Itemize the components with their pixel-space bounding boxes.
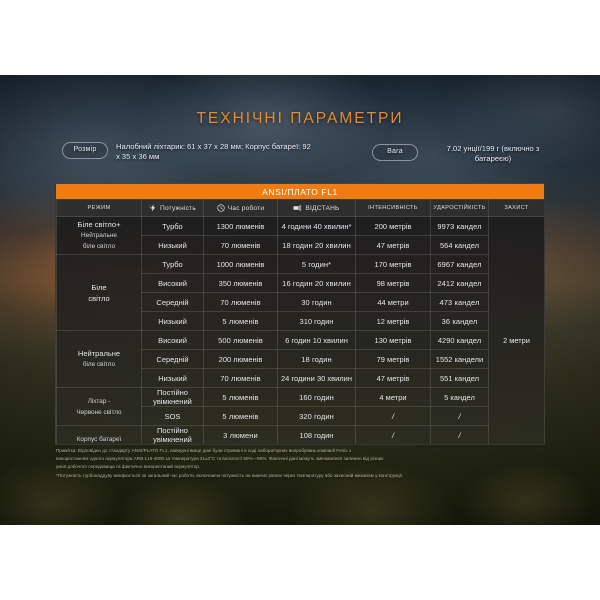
group-line-2: Червоне світло xyxy=(59,407,139,418)
size-value: Налобний ліхтарик: 61 x 37 x 28 мм; Корп… xyxy=(116,142,316,162)
cell-distance: 79 метрів xyxy=(356,350,431,369)
group-line-1: Нейтральне xyxy=(78,349,120,358)
cell-power: 70 люменів xyxy=(204,236,278,255)
cell-intensity: 551 кандел xyxy=(431,369,489,388)
cell-runtime: 6 годин 10 хвилин xyxy=(278,331,356,350)
group-line-1: Ліхтар - xyxy=(59,396,139,407)
cell-distance: 47 метрів xyxy=(356,369,431,388)
cell-runtime: 310 годин xyxy=(278,312,356,331)
table-header: РЕЖИМ Потужність xyxy=(57,200,545,217)
group-line-1: Біле xyxy=(91,283,106,292)
cell-level: SOS xyxy=(142,407,204,426)
cell-intensity: / xyxy=(431,426,489,445)
cell-intensity: 2412 кандел xyxy=(431,274,489,293)
table-row: Ліхтар - Червоне світло Постійно увімкне… xyxy=(57,388,545,407)
cell-distance: 44 метри xyxy=(356,293,431,312)
cell-level: Турбо xyxy=(142,217,204,236)
group-label-white-plus-neutral: Біле світло+ Нейтральне біле світло xyxy=(57,217,142,255)
cell-runtime: 320 годин xyxy=(278,407,356,426)
cell-runtime: 5 годин* xyxy=(278,255,356,274)
cell-power: 5 люменів xyxy=(204,388,278,407)
cell-runtime: 30 годин xyxy=(278,293,356,312)
page-title: ТЕХНІЧНІ ПАРАМЕТРИ xyxy=(0,110,600,128)
group-line-2: червоне світло xyxy=(59,445,139,446)
cell-power: 3 люмени xyxy=(204,426,278,445)
cell-power: 200 люменів xyxy=(204,350,278,369)
cell-level: Високий xyxy=(142,331,204,350)
header-impact: УДАРОСТІЙКІСТЬ xyxy=(431,200,489,217)
cell-power: 5 люменів xyxy=(204,407,278,426)
cell-distance: / xyxy=(356,407,431,426)
spec-size-group: Розмір Налобний ліхтарик: 61 x 37 x 28 м… xyxy=(62,142,316,162)
spec-summary-row: Розмір Налобний ліхтарик: 61 x 37 x 28 м… xyxy=(0,140,600,186)
cell-intensity: 473 кандел xyxy=(431,293,489,312)
cell-runtime: 160 годин xyxy=(278,388,356,407)
table-row: Біле світло Турбо 1000 люменів 5 годин* … xyxy=(57,255,545,274)
cell-intensity: / xyxy=(431,407,489,426)
header-intensity: ІНТЕНСИВНІСТЬ xyxy=(356,200,431,217)
footnote-line-1: Примітка: Відповідно до стандарту ANSI/P… xyxy=(56,447,544,455)
clock-icon xyxy=(217,204,225,212)
cell-runtime: 108 годин xyxy=(278,426,356,445)
cell-distance: 47 метрів xyxy=(356,236,431,255)
group-label-lantern-red: Ліхтар - Червоне світло xyxy=(57,388,142,426)
cell-level: Низький xyxy=(142,312,204,331)
weight-badge: Вага xyxy=(372,144,418,161)
header-distance: ВІДСТАНЬ xyxy=(278,200,356,217)
cell-intensity: 36 кандел xyxy=(431,312,489,331)
specifications-table: РЕЖИМ Потужність xyxy=(56,199,545,445)
cell-runtime: 16 годин 20 хвилин xyxy=(278,274,356,293)
weight-value: 7.02 унції/199 г (включно з батареєю) xyxy=(428,144,558,164)
cell-power: 500 люменів xyxy=(204,331,278,350)
cell-runtime: 216 годин xyxy=(278,445,356,446)
table-row: Біле світло+ Нейтральне біле світло Турб… xyxy=(57,217,545,236)
cell-level: Турбо xyxy=(142,255,204,274)
cell-power: 1000 люменів xyxy=(204,255,278,274)
group-line-2: біле світло xyxy=(59,359,139,370)
header-protection: ЗАХИСТ xyxy=(489,200,545,217)
cell-level: Низький xyxy=(142,236,204,255)
cell-runtime: 24 години 30 хвилин xyxy=(278,369,356,388)
cell-distance: 130 метрів xyxy=(356,331,431,350)
cell-intensity: / xyxy=(431,445,489,446)
table-body: Біле світло+ Нейтральне біле світло Турб… xyxy=(57,217,545,446)
cell-runtime: 18 годин xyxy=(278,350,356,369)
cell-power: 1300 люменів xyxy=(204,217,278,236)
cell-intensity: 6967 кандел xyxy=(431,255,489,274)
cell-intensity: 564 кандел xyxy=(431,236,489,255)
cell-runtime: 18 годин 20 хвилин xyxy=(278,236,356,255)
group-line-2: Нейтральне xyxy=(59,230,139,241)
lightning-icon xyxy=(149,204,157,212)
header-distance-label: ВІДСТАНЬ xyxy=(305,205,339,212)
header-mode: РЕЖИМ xyxy=(57,200,142,217)
page-root: ТЕХНІЧНІ ПАРАМЕТРИ Розмір Налобний ліхта… xyxy=(0,0,600,600)
group-line-1: Корпус батареї xyxy=(59,434,139,445)
cell-distance: 170 метрів xyxy=(356,255,431,274)
cell-level: Спалах xyxy=(142,445,204,446)
table-row: Нейтральне біле світло Високий 500 люмен… xyxy=(57,331,545,350)
cell-level: Середній xyxy=(142,293,204,312)
cell-intensity: 9973 кандел xyxy=(431,217,489,236)
cell-power: 5 люменів xyxy=(204,312,278,331)
cell-power: 3 люмени xyxy=(204,445,278,446)
header-power-label: Потужність xyxy=(160,205,196,212)
footnote-line-4: *Потужність турбонаддуву вимірюється за … xyxy=(56,472,544,480)
group-line-2: світло xyxy=(88,294,109,303)
cell-distance: / xyxy=(356,426,431,445)
cell-power: 350 люменів xyxy=(204,274,278,293)
cell-level: Низький xyxy=(142,369,204,388)
group-label-neutral-white: Нейтральне біле світло xyxy=(57,331,142,388)
cell-distance: 200 метрів xyxy=(356,217,431,236)
size-badge: Розмір xyxy=(62,142,108,159)
cell-power: 70 люменів xyxy=(204,369,278,388)
table-row: Корпус батареї червоне світло Постійно у… xyxy=(57,426,545,445)
group-line-1: Біле світло+ xyxy=(78,220,121,229)
cell-distance: 4 метри xyxy=(356,388,431,407)
header-runtime: Час роботи xyxy=(204,200,278,217)
group-label-white: Біле світло xyxy=(57,255,142,331)
group-label-battery-red: Корпус батареї червоне світло xyxy=(57,426,142,446)
cell-level: Постійно увімкнений xyxy=(142,388,204,407)
spec-table-panel: ANSI/ПЛАТО FL1 РЕЖИМ xyxy=(55,183,545,445)
cell-distance: / xyxy=(356,445,431,446)
cell-intensity: 1552 кандели xyxy=(431,350,489,369)
cell-impact: 2 метри xyxy=(489,217,545,446)
footnote-line-3: умов робочого середовища та фактично вик… xyxy=(56,463,544,471)
ansi-banner: ANSI/ПЛАТО FL1 xyxy=(56,184,544,199)
cell-runtime: 4 години 40 хвилин* xyxy=(278,217,356,236)
header-runtime-label: Час роботи xyxy=(228,205,265,212)
footnote-line-2: використанням одного акумулятора ARB-L18… xyxy=(56,455,544,463)
cell-level: Середній xyxy=(142,350,204,369)
header-power: Потужність xyxy=(142,200,204,217)
table-header-row: РЕЖИМ Потужність xyxy=(57,200,545,217)
cell-distance: 98 метрів xyxy=(356,274,431,293)
cell-level: Постійно увімкнений xyxy=(142,426,204,445)
cell-intensity: 4290 кандел xyxy=(431,331,489,350)
cell-intensity: 5 кандел xyxy=(431,388,489,407)
group-line-3: біле світло xyxy=(59,241,139,252)
cell-level: Високий xyxy=(142,274,204,293)
cell-distance: 12 метрів xyxy=(356,312,431,331)
beam-icon xyxy=(293,204,302,212)
spec-weight-group: Вага 7.02 унції/199 г (включно з батареє… xyxy=(372,144,558,164)
cell-power: 70 люменів xyxy=(204,293,278,312)
footnote-block: Примітка: Відповідно до стандарту ANSI/P… xyxy=(56,447,544,480)
